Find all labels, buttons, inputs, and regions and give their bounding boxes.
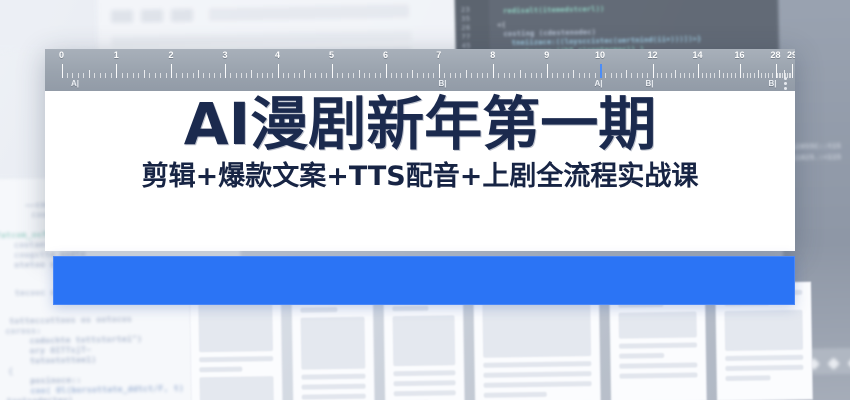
document-image-placeholder xyxy=(393,315,456,366)
ruler-tick-major xyxy=(653,64,654,78)
promo-card: 0123456789101214162829 A|B|A|B|B| AI漫剧新年… xyxy=(45,49,795,251)
code-line-number: 35 xyxy=(461,15,470,24)
ruler-tick-major xyxy=(547,64,548,78)
ruler-number: 10 xyxy=(595,50,605,61)
ruler-number: 4 xyxy=(275,50,280,61)
document-image-placeholder xyxy=(618,311,696,338)
document-text-line xyxy=(302,394,366,400)
ruler-tick-minor xyxy=(198,70,199,78)
ruler-tick-minor xyxy=(304,70,305,78)
ruler-tick-minor xyxy=(423,73,424,78)
ruler-tick-minor xyxy=(257,73,258,78)
ruler-tick-minor xyxy=(714,73,715,78)
ruler-tick-minor xyxy=(684,73,685,78)
ruler-tick-minor xyxy=(466,70,467,78)
ruler-tick-minor xyxy=(203,73,204,78)
ruler-tick-minor xyxy=(407,73,408,78)
ruler-tick-minor xyxy=(689,73,690,78)
ruler-tick-minor xyxy=(236,73,237,78)
ruler-tick-minor xyxy=(89,70,90,78)
ruler-number: 6 xyxy=(383,50,388,61)
ruler-tick-minor xyxy=(220,73,221,78)
ruler-tick-major xyxy=(386,64,387,78)
ruler-marker: B| xyxy=(645,79,653,89)
background-panel-top-left-small xyxy=(0,0,101,51)
ruler-tick-minor xyxy=(428,73,429,78)
ruler-tick-minor xyxy=(710,73,711,78)
ruler-marker: B| xyxy=(768,79,776,89)
ruler-number: 28 xyxy=(770,50,780,61)
overflow-dots-icon[interactable] xyxy=(784,77,787,90)
ruler-tick-minor xyxy=(750,73,751,78)
ruler-tick-minor xyxy=(509,73,510,78)
ruler-tick-minor xyxy=(675,70,676,78)
ruler-tick-minor xyxy=(78,73,79,78)
code-line: totteccottoos os ootocos xyxy=(9,315,132,327)
background-toolbar-bar xyxy=(209,4,409,21)
ruler-tick-minor xyxy=(396,73,397,78)
ruler-number: 0 xyxy=(59,50,64,61)
ruler-cursor[interactable] xyxy=(600,64,602,78)
ruler-tick-minor xyxy=(727,73,728,78)
code-line: tootsoderteo) xyxy=(7,396,74,400)
ruler-tick-minor xyxy=(693,73,694,78)
ruler-tick-minor xyxy=(605,73,606,78)
ruler-number: 3 xyxy=(222,50,227,61)
ruler-tick-minor xyxy=(706,73,707,78)
ruler-tick-minor xyxy=(758,70,759,78)
ruler-tick-minor xyxy=(573,70,574,78)
ruler-tick-minor xyxy=(719,70,720,78)
ruler-tick-minor xyxy=(520,70,521,78)
code-line: <( xyxy=(497,21,506,30)
ruler-tick-minor xyxy=(754,73,755,78)
ruler-tick-minor xyxy=(616,73,617,78)
ruler-tick-minor xyxy=(723,73,724,78)
ruler-tick-minor xyxy=(731,73,732,78)
ruler-number: 8 xyxy=(490,50,495,61)
ruler-number: 12 xyxy=(647,50,657,61)
ruler-tick-minor xyxy=(348,73,349,78)
document-thumbnail xyxy=(189,290,283,400)
code-line: #11025.:<11S xyxy=(787,153,841,163)
ruler-tick-minor xyxy=(288,73,289,78)
document-text-line xyxy=(394,380,456,386)
ruler-tick-minor xyxy=(272,73,273,78)
ruler-tick-minor xyxy=(525,73,526,78)
code-line-number: 77 xyxy=(461,33,470,42)
ruler-bar[interactable]: 0123456789101214162829 A|B|A|B|B| xyxy=(45,49,795,91)
ruler-tick-major xyxy=(332,64,333,78)
document-text-line xyxy=(483,371,591,378)
ruler-tick-minor xyxy=(412,70,413,78)
code-line: tutootottee1) xyxy=(30,355,97,366)
document-text-line xyxy=(393,370,455,376)
ruler-tick-minor xyxy=(417,73,418,78)
ruler-tick-minor xyxy=(326,73,327,78)
ruler-number: 16 xyxy=(734,50,744,61)
ruler-tick-minor xyxy=(482,73,483,78)
document-image-placeholder xyxy=(724,310,803,351)
ruler-tick-minor xyxy=(359,70,360,78)
ruler-number: 9 xyxy=(544,50,549,61)
ruler-tick-minor xyxy=(631,73,632,78)
ruler-tick-minor xyxy=(455,73,456,78)
ruler-tick-minor xyxy=(251,70,252,78)
ruler-tick-minor xyxy=(182,73,183,78)
ruler-tick-minor xyxy=(661,73,662,78)
ruler-tick-minor xyxy=(557,73,558,78)
ruler-tick-minor xyxy=(100,73,101,78)
ruler-tick-minor xyxy=(541,73,542,78)
ruler-marker: A| xyxy=(71,79,79,89)
ruler-tick-minor xyxy=(765,73,766,78)
ruler-tick-minor xyxy=(111,73,112,78)
ruler-tick-minor xyxy=(471,73,472,78)
ruler-tick-minor xyxy=(315,73,316,78)
ruler-tick-minor xyxy=(761,73,762,78)
ruler-tick-minor xyxy=(149,73,150,78)
ruler-tick-major xyxy=(171,64,172,78)
document-image-placeholder xyxy=(198,303,273,352)
ruler-tick-minor xyxy=(768,73,769,78)
ruler-tick-minor xyxy=(498,73,499,78)
ruler-tick-minor xyxy=(702,73,703,78)
ruler-tick-minor xyxy=(391,73,392,78)
ruler-tick-minor xyxy=(637,73,638,78)
ruler-tick-minor xyxy=(369,73,370,78)
code-line: coo( Ol(borsottate_ddtct/F, t) xyxy=(30,384,184,397)
ruler-tick-minor xyxy=(531,73,532,78)
ruler-tick-minor xyxy=(262,73,263,78)
ruler-tick-minor xyxy=(450,73,451,78)
document-text-line xyxy=(725,355,803,361)
document-text-line xyxy=(302,384,366,390)
ruler-tick-minor xyxy=(241,73,242,78)
ruler-tick-minor xyxy=(310,73,311,78)
document-text-line xyxy=(484,381,592,388)
ruler-tick-minor xyxy=(155,73,156,78)
ruler-tick-minor xyxy=(563,73,564,78)
ruler-tick-minor xyxy=(294,73,295,78)
ruler-tick-minor xyxy=(138,73,139,78)
code-line: { xyxy=(8,367,13,377)
ruler-tick-major xyxy=(62,64,63,78)
ruler-tick-minor xyxy=(735,73,736,78)
ruler-tick-minor xyxy=(433,73,434,78)
code-line-number: 23 xyxy=(461,6,470,15)
headline-block: AI漫剧新年第一期 剪辑+爆款文案+TTS配音+上剧全流程实战课 xyxy=(45,91,795,195)
document-thumbnail xyxy=(291,289,375,400)
ruler-tick-minor xyxy=(144,70,145,78)
ruler-tick-minor xyxy=(595,73,596,78)
ruler-tick-minor xyxy=(283,73,284,78)
ruler-tick-minor xyxy=(401,73,402,78)
ruler-tick-minor xyxy=(584,73,585,78)
ruler-tick-minor xyxy=(209,73,210,78)
ruler-tick-minor xyxy=(647,73,648,78)
ruler-tick-minor xyxy=(72,73,73,78)
document-text-line xyxy=(484,392,547,398)
document-text-line xyxy=(725,375,770,381)
ruler-tick-minor xyxy=(166,73,167,78)
document-text-line xyxy=(199,356,273,362)
ruler-tick-minor xyxy=(680,73,681,78)
ruler-tick-minor xyxy=(321,73,322,78)
ruler-tick-minor xyxy=(743,73,744,78)
ruler-tick-minor xyxy=(380,73,381,78)
document-text-line xyxy=(619,362,697,368)
ruler-tick-minor xyxy=(552,73,553,78)
ruler-tick-minor xyxy=(246,73,247,78)
ruler-tick-minor xyxy=(133,73,134,78)
accent-blue-band xyxy=(53,256,795,305)
document-text-line xyxy=(392,306,428,312)
ruler-tick-minor xyxy=(477,73,478,78)
ruler-tick-minor xyxy=(444,73,445,78)
ruler-tick-minor xyxy=(666,73,667,78)
document-image-placeholder xyxy=(199,376,274,400)
code-line: redisalt(itemedstcerl)) xyxy=(503,5,605,16)
ruler-tick-minor xyxy=(671,73,672,78)
ruler-tick-minor xyxy=(568,73,569,78)
ruler-marker: B| xyxy=(438,79,446,89)
ruler-tick-minor xyxy=(353,73,354,78)
ruler-tick-major xyxy=(792,64,793,78)
background-row-1 xyxy=(111,30,411,47)
ruler-tick-major xyxy=(225,64,226,78)
ruler-tick-major xyxy=(439,64,440,78)
document-text-line xyxy=(619,342,697,348)
ruler-tick-minor xyxy=(375,73,376,78)
ruler-tick-minor xyxy=(487,73,488,78)
ruler-tick-minor xyxy=(160,73,161,78)
ruler-tick-minor xyxy=(772,73,773,78)
ruler-number: 2 xyxy=(168,50,173,61)
ruler-tick-minor xyxy=(193,73,194,78)
ruler-tick-minor xyxy=(122,73,123,78)
ruler-tick-minor xyxy=(642,73,643,78)
document-text-line xyxy=(301,374,365,380)
ruler-marker: A| xyxy=(594,79,602,89)
ruler-tick-minor xyxy=(337,73,338,78)
ruler-tick-minor xyxy=(67,73,68,78)
ruler-tick-major xyxy=(493,64,494,78)
ruler-tick-minor xyxy=(611,73,612,78)
document-text-line xyxy=(483,361,591,368)
ruler-tick-major xyxy=(698,64,699,78)
ruler-tick-minor xyxy=(626,70,627,78)
document-text-line xyxy=(394,390,456,396)
ruler-numbers: 0123456789101214162829 xyxy=(45,50,795,63)
background-toolbar-icons xyxy=(111,9,193,24)
ruler-ticks xyxy=(45,64,795,78)
document-text-line xyxy=(619,353,664,359)
ruler-number: 1 xyxy=(114,50,119,61)
ruler-tick-minor xyxy=(105,73,106,78)
ruler-tick-minor xyxy=(536,73,537,78)
document-text-line xyxy=(199,367,242,373)
ruler-number: 29 xyxy=(787,50,795,61)
ruler-tick-minor xyxy=(230,73,231,78)
ruler-tick-minor xyxy=(176,73,177,78)
ruler-tick-major xyxy=(740,64,741,78)
ruler-tick-major xyxy=(278,64,279,78)
ruler-number: 7 xyxy=(436,50,441,61)
document-text-line xyxy=(300,307,337,313)
ruler-tick-minor xyxy=(299,73,300,78)
ruler-tick-minor xyxy=(657,73,658,78)
ruler-tick-minor xyxy=(621,73,622,78)
ruler-tick-minor xyxy=(83,73,84,78)
page-subtitle: 剪辑+爆款文案+TTS配音+上剧全流程实战课 xyxy=(45,159,795,195)
document-text-line xyxy=(619,372,697,378)
ruler-tick-minor xyxy=(267,73,268,78)
ruler-tick-minor xyxy=(589,73,590,78)
document-image-placeholder xyxy=(301,317,366,370)
ruler-tick-minor xyxy=(460,73,461,78)
ruler-tick-minor xyxy=(579,73,580,78)
ruler-tick-minor xyxy=(127,73,128,78)
ruler-tick-minor xyxy=(214,73,215,78)
ruler-tick-minor xyxy=(94,73,95,78)
ruler-tick-major xyxy=(116,64,117,78)
code-line: coross: xyxy=(5,326,41,337)
document-text-line xyxy=(725,365,803,371)
ruler-tick-minor xyxy=(504,73,505,78)
ruler-tick-minor xyxy=(342,73,343,78)
document-image-placeholder xyxy=(482,298,591,358)
ruler-tick-minor xyxy=(747,73,748,78)
ruler-tick-minor xyxy=(514,73,515,78)
ruler-number: 14 xyxy=(692,50,702,61)
ruler-tick-minor xyxy=(187,73,188,78)
page-title: AI漫剧新年第一期 xyxy=(45,91,795,157)
ruler-tick-minor xyxy=(364,73,365,78)
code-line-number: 26 xyxy=(461,24,470,33)
ruler-number: 5 xyxy=(329,50,334,61)
code-line: #12055C::t1S xyxy=(787,142,841,152)
